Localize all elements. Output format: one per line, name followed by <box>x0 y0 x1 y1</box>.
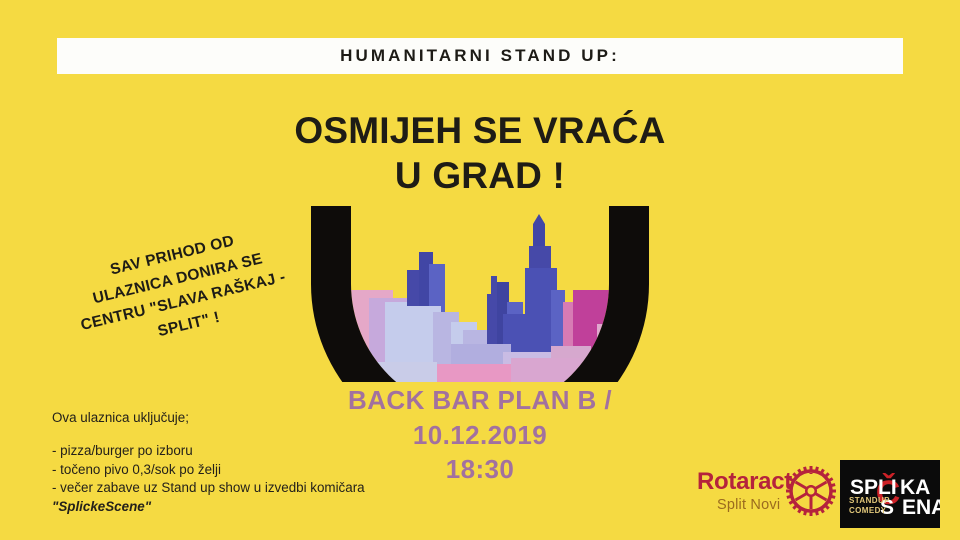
splicka-scena-logo: Č SPLI KA S ENA STANDUP COMEDY <box>840 460 940 528</box>
page-title: OSMIJEH SE VRAĆA U GRAD ! <box>0 108 960 198</box>
donation-note: SAV PRIHOD OD ULAZNICA DONIRA SE CENTRU … <box>55 217 305 363</box>
list-item: - točeno pivo 0,3/sok po želji <box>52 463 365 476</box>
smile-arc-city-skyline-graphic <box>311 206 649 382</box>
ticket-info-block: Ova ulaznica uključuje; - pizza/burger p… <box>52 411 365 513</box>
rotaract-logo: Rotaract Split Novi <box>697 466 837 524</box>
rotary-gear-wheel-icon <box>786 466 836 516</box>
title-line-1: OSMIJEH SE VRAĆA <box>294 110 665 151</box>
list-item: - večer zabave uz Stand up show u izvedb… <box>52 481 365 494</box>
splicka-word-bottom-right: ENA <box>902 496 940 519</box>
splicka-tagline-line-2: COMEDY <box>849 506 887 515</box>
rotaract-wordmark: Rotaract <box>697 468 792 496</box>
header-bar: HUMANITARNI STAND UP: <box>57 38 903 74</box>
list-item: - pizza/burger po izboru <box>52 444 365 457</box>
splicka-tagline-line-1: STANDUP <box>849 496 890 505</box>
rotaract-club-name: Split Novi <box>717 497 780 513</box>
ticket-items-list: - pizza/burger po izboru - točeno pivo 0… <box>52 444 365 494</box>
ticket-intro: Ova ulaznica uključuje; <box>52 411 365 424</box>
title-line-2: U GRAD ! <box>0 153 960 198</box>
header-title: HUMANITARNI STAND UP: <box>340 46 620 66</box>
performer-brand-name: "SplickeScene" <box>52 500 365 513</box>
event-poster: HUMANITARNI STAND UP: OSMIJEH SE VRAĆA U… <box>0 0 960 540</box>
